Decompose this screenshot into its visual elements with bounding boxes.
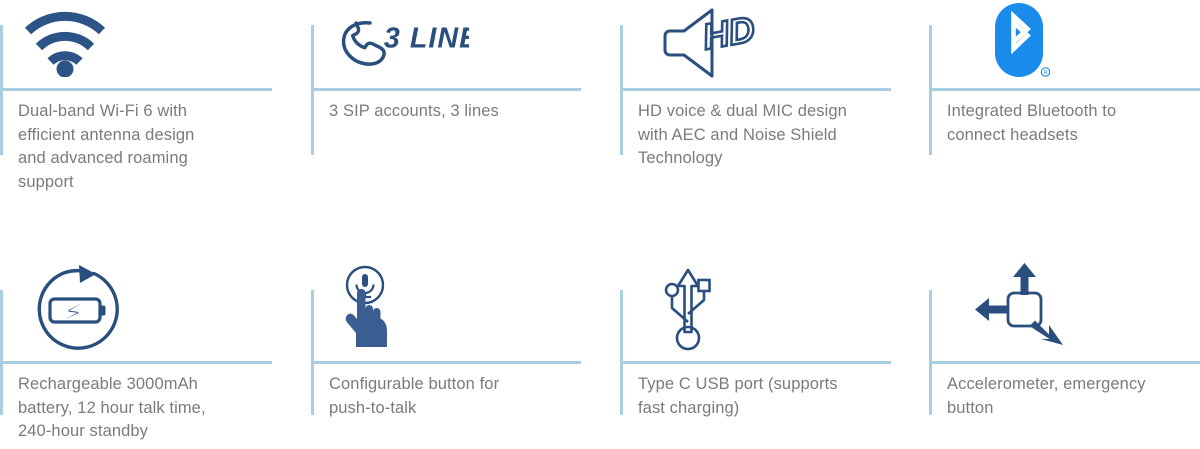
wifi-icon [18, 0, 158, 86]
cell-horizontal-rule [929, 88, 1200, 91]
feature-cell-3-lines: 3 LINES 3 SIP accounts, 3 lines [311, 0, 611, 225]
feature-cell-push-to-talk: Configurable button for push-to-talk [311, 272, 611, 449]
icon-text-hd: HD [699, 8, 756, 57]
bluetooth-icon: R [947, 0, 1087, 86]
handset-3-lines-icon: 3 LINES [329, 0, 469, 86]
feature-cell-wifi: Dual-band Wi-Fi 6 with efficient antenna… [0, 0, 300, 225]
usb-icon [638, 266, 778, 352]
icon-text-3-lines: 3 LINES [384, 22, 469, 54]
feature-caption: Configurable button for push-to-talk [329, 373, 499, 420]
accelerometer-icon [947, 266, 1087, 352]
cell-horizontal-rule [0, 361, 272, 364]
feature-cell-battery: Rechargeable 3000mAh battery, 12 hour ta… [0, 272, 300, 449]
feature-caption: Dual-band Wi-Fi 6 with efficient antenna… [18, 100, 194, 194]
push-to-talk-button-icon [329, 266, 469, 352]
feature-cell-usb: Type C USB port (supports fast charging) [620, 272, 920, 449]
hd-speaker-icon: HD [638, 0, 778, 86]
feature-caption: HD voice & dual MIC design with AEC and … [638, 100, 847, 171]
feature-caption: Rechargeable 3000mAh battery, 12 hour ta… [18, 373, 206, 444]
feature-caption: Accelerometer, emergency button [947, 373, 1146, 420]
cell-horizontal-rule [0, 88, 272, 91]
feature-cell-hd-voice: HD HD voice & dual MIC design with AEC a… [620, 0, 920, 225]
cell-horizontal-rule [929, 361, 1200, 364]
feature-caption: 3 SIP accounts, 3 lines [329, 100, 499, 124]
cell-vertical-rule [929, 290, 932, 415]
cell-horizontal-rule [311, 88, 581, 91]
feature-caption: Integrated Bluetooth to connect headsets [947, 100, 1116, 147]
rechargeable-battery-icon [18, 266, 158, 352]
svg-text:R: R [1044, 70, 1048, 76]
cell-vertical-rule [620, 290, 623, 415]
feature-cell-bluetooth: R Integrated Bluetooth to connect headse… [929, 0, 1200, 225]
cell-horizontal-rule [311, 361, 581, 364]
cell-vertical-rule [0, 290, 3, 415]
cell-vertical-rule [311, 290, 314, 415]
feature-caption: Type C USB port (supports fast charging) [638, 373, 838, 420]
cell-horizontal-rule [620, 88, 891, 91]
cell-horizontal-rule [620, 361, 891, 364]
feature-cell-accelerometer: Accelerometer, emergency button [929, 272, 1200, 449]
feature-grid: Dual-band Wi-Fi 6 with efficient antenna… [0, 0, 1200, 449]
